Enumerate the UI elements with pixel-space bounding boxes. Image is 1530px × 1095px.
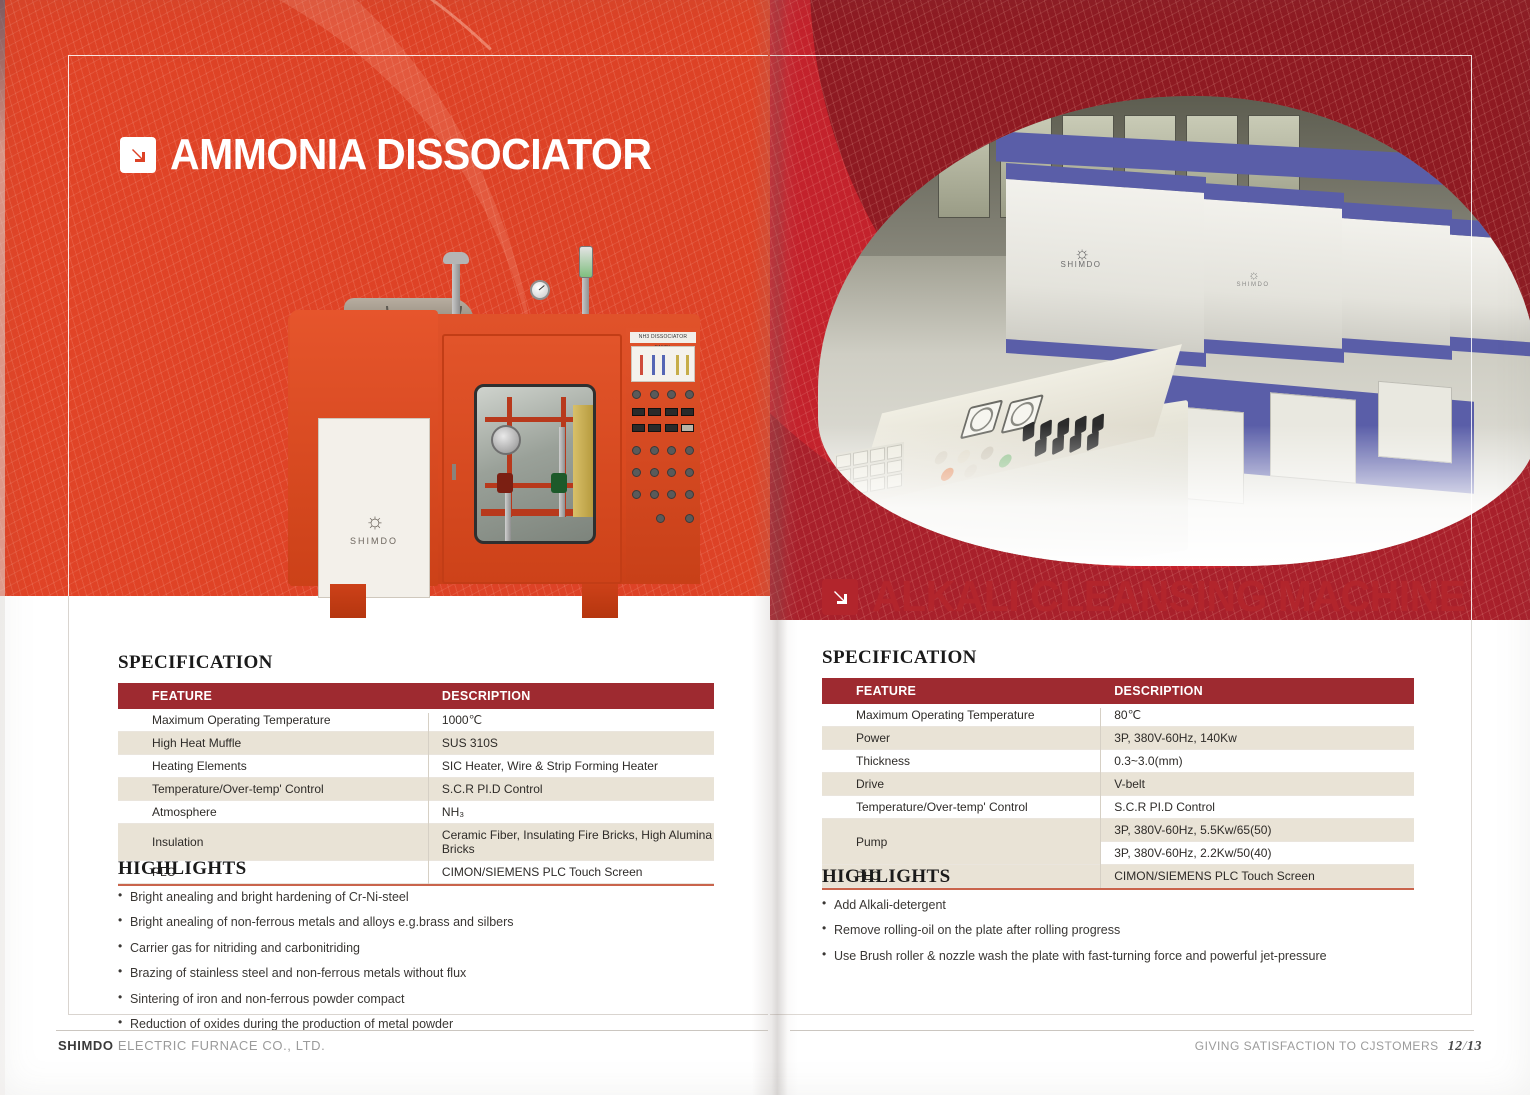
right-table-column-separator <box>1100 708 1101 888</box>
factory-scene: ☼ SHIMDO ☼ SHIMDO <box>818 96 1530 566</box>
left-spec-table: FEATURE DESCRIPTION Maximum Operating Te… <box>118 683 714 884</box>
panel-button[interactable] <box>650 468 659 477</box>
cell-description: 3P, 380V-60Hz, 2.2Kw/50(40) <box>1100 842 1414 865</box>
cell-feature: Thickness <box>822 750 1100 773</box>
right-spec-heading: SPECIFICATION <box>822 647 1414 669</box>
panel-meter <box>665 408 678 416</box>
cell-feature: Maximum Operating Temperature <box>118 709 428 732</box>
machine-logo-text: SHIMDO <box>350 536 398 546</box>
panel-button[interactable] <box>632 490 641 499</box>
page-number-right: 13 <box>1467 1039 1482 1054</box>
list-item: Add Alkali-detergent <box>822 898 1422 923</box>
right-footer-rule <box>790 1030 1474 1031</box>
machine-control-panel: NH3 DISSOCIATOR PANEL <box>626 328 700 584</box>
cell-feature: Atmosphere <box>118 801 428 824</box>
machine-panel-mimic-screen <box>631 346 695 382</box>
panel-button[interactable] <box>632 468 641 477</box>
panel-meter <box>632 408 645 416</box>
list-item: Use Brush roller & nozzle wash the plate… <box>822 949 1422 974</box>
panel-meter <box>681 408 694 416</box>
table-row: Heating ElementsSIC Heater, Wire & Strip… <box>118 755 714 778</box>
cell-description: 3P, 380V-60Hz, 140Kw <box>1100 727 1414 750</box>
panel-button[interactable] <box>685 490 694 499</box>
right-highlights-section: HIGHLIGHTS Add Alkali-detergentRemove ro… <box>822 866 1422 974</box>
footer-tagline: GIVING SATISFACTION TO CJSTOMERS <box>1195 1039 1439 1053</box>
page-number-left: 12 <box>1448 1039 1463 1054</box>
right-highlights-heading: HIGHLIGHTS <box>822 866 1422 888</box>
cell-description: 80℃ <box>1100 704 1414 727</box>
left-spec-heading: SPECIFICATION <box>118 652 714 674</box>
machine-valve-red <box>497 473 513 493</box>
machine-brand-logo: ☼ SHIMDO <box>350 512 398 546</box>
panel-button[interactable] <box>685 468 694 477</box>
furnace-logo-text-2: SHIMDO <box>1218 282 1288 288</box>
machine-valve-green <box>551 473 567 493</box>
cell-description: SUS 310S <box>428 732 714 755</box>
furnace-brand-logo: ☼ SHIMDO <box>1036 246 1126 269</box>
cell-description: S.C.R PI.D Control <box>428 778 714 801</box>
left-highlights-list: Bright anealing and bright hardening of … <box>118 890 718 1042</box>
ammonia-dissociator-photo: ☼ SHIMDO NH3 DISSOCIATOR PAN <box>282 252 722 634</box>
mimic-bar-5 <box>686 355 689 375</box>
table-row: Maximum Operating Temperature1000℃ <box>118 709 714 732</box>
column-header-description: DESCRIPTION <box>1100 678 1414 704</box>
machine-panel-button-row-5[interactable] <box>656 514 694 523</box>
panel-button[interactable] <box>685 514 694 523</box>
cell-feature: Temperature/Over-temp' Control <box>822 796 1100 819</box>
machine-center-cabinet <box>442 334 622 584</box>
table-row: DriveV-belt <box>822 773 1414 796</box>
machine-center-handle <box>452 464 456 480</box>
panel-button[interactable] <box>667 446 676 455</box>
list-item: Sintering of iron and non-ferrous powder… <box>118 992 718 1017</box>
panel-meter <box>681 424 694 432</box>
machine-logo-panel: ☼ SHIMDO <box>318 418 430 598</box>
table-row: InsulationCeramic Fiber, Insulating Fire… <box>118 824 714 861</box>
machine-panel-button-row-4[interactable] <box>632 490 694 499</box>
page-title: ALKALI CLEANSING MACHINE <box>872 575 1466 619</box>
factory-floor-glow <box>818 425 1530 566</box>
mimic-bar-3 <box>662 355 665 375</box>
machine-flow-valve <box>491 425 521 455</box>
cell-description: S.C.R PI.D Control <box>1100 796 1414 819</box>
table-row: High Heat MuffleSUS 310S <box>118 732 714 755</box>
table-row: AtmosphereNH₃ <box>118 801 714 824</box>
panel-button[interactable] <box>656 514 665 523</box>
table-header-row: FEATURE DESCRIPTION <box>118 683 714 709</box>
cell-feature: Pump <box>822 819 1100 865</box>
machine-panel-button-row-3[interactable] <box>632 468 694 477</box>
list-item: Remove rolling-oil on the plate after ro… <box>822 923 1422 948</box>
furnace-logo-text: SHIMDO <box>1036 260 1126 269</box>
right-specification-section: SPECIFICATION FEATURE DESCRIPTION Maximu… <box>822 647 1414 890</box>
shimdo-logo-mark: ☼ <box>350 512 398 530</box>
cell-description: 1000℃ <box>428 709 714 732</box>
machine-panel-button-row-2[interactable] <box>632 446 694 455</box>
machine-shaft-2 <box>559 427 565 517</box>
cell-feature: High Heat Muffle <box>118 732 428 755</box>
footer-company-rest: ELECTRIC FURNACE CO., LTD. <box>114 1038 326 1053</box>
table-row: Power3P, 380V-60Hz, 140Kw <box>822 727 1414 750</box>
machine-foot-right <box>582 584 618 618</box>
table-row: Temperature/Over-temp' ControlS.C.R PI.D… <box>118 778 714 801</box>
panel-button[interactable] <box>685 446 694 455</box>
machine-left-door: ☼ SHIMDO <box>290 310 438 586</box>
page-number: 12/13 <box>1448 1039 1482 1055</box>
panel-button[interactable] <box>632 390 641 399</box>
machine-pressure-gauge <box>530 280 550 300</box>
left-highlights-section: HIGHLIGHTS Bright anealing and bright ha… <box>118 858 718 1042</box>
machine-foot-left <box>330 584 366 618</box>
furnace-unit <box>1450 219 1530 358</box>
cell-feature: Temperature/Over-temp' Control <box>118 778 428 801</box>
cell-description: 0.3~3.0(mm) <box>1100 750 1414 773</box>
panel-button[interactable] <box>650 390 659 399</box>
cell-description: Ceramic Fiber, Insulating Fire Bricks, H… <box>428 824 714 861</box>
cell-feature: Maximum Operating Temperature <box>822 704 1100 727</box>
cell-description: SIC Heater, Wire & Strip Forming Heater <box>428 755 714 778</box>
page-title: AMMONIA DISSOCIATOR <box>170 133 651 177</box>
machine-panel-label: NH3 DISSOCIATOR PANEL <box>630 332 696 343</box>
table-row: Maximum Operating Temperature80℃ <box>822 704 1414 727</box>
shimdo-logo-mark: ☼ <box>1218 268 1288 282</box>
column-header-feature: FEATURE <box>822 678 1100 704</box>
machine-panel-button-row-1[interactable] <box>632 390 694 399</box>
brochure-spread: ☼ SHIMDO NH3 DISSOCIATOR PAN <box>0 0 1530 1095</box>
list-item: Bright anealing of non-ferrous metals an… <box>118 915 718 940</box>
scan-left-edge <box>0 0 5 1095</box>
machine-panel-meter-row-2 <box>632 424 694 432</box>
alkali-cleansing-machine-photo: ☼ SHIMDO ☼ SHIMDO <box>818 96 1530 566</box>
table-header-row: FEATURE DESCRIPTION <box>822 678 1414 704</box>
machine-panel-meter-row-1 <box>632 408 694 416</box>
mimic-bar-2 <box>652 355 655 375</box>
factory-window <box>938 115 990 218</box>
machine-yellow-column <box>573 405 593 517</box>
panel-meter <box>665 424 678 432</box>
list-item: Brazing of stainless steel and non-ferro… <box>118 966 718 991</box>
mimic-bar-1 <box>640 355 643 375</box>
list-item: Bright anealing and bright hardening of … <box>118 890 718 915</box>
cell-feature: Power <box>822 727 1100 750</box>
cell-description: NH₃ <box>428 801 714 824</box>
footer-company: SHIMDO ELECTRIC FURNACE CO., LTD. <box>58 1038 325 1053</box>
shimdo-logo-mark: ☼ <box>1036 246 1126 260</box>
panel-meter <box>648 408 661 416</box>
panel-button[interactable] <box>667 390 676 399</box>
left-page-title-row: AMMONIA DISSOCIATOR <box>120 133 688 177</box>
left-highlights-heading: HIGHLIGHTS <box>118 858 718 880</box>
footer-tagline-block: GIVING SATISFACTION TO CJSTOMERS 12/13 <box>1195 1039 1482 1055</box>
machine-vent-stack-1 <box>452 260 460 322</box>
arrow-down-right-icon <box>120 137 156 173</box>
panel-button[interactable] <box>685 390 694 399</box>
panel-button[interactable] <box>667 490 676 499</box>
cell-feature: Heating Elements <box>118 755 428 778</box>
arrow-down-right-icon <box>822 579 858 615</box>
cell-feature: Insulation <box>118 824 428 861</box>
column-header-feature: FEATURE <box>118 683 428 709</box>
left-footer-rule <box>56 1030 768 1031</box>
table-row: Temperature/Over-temp' ControlS.C.R PI.D… <box>822 796 1414 819</box>
panel-button[interactable] <box>650 490 659 499</box>
column-header-description: DESCRIPTION <box>428 683 714 709</box>
cell-description: 3P, 380V-60Hz, 5.5Kw/65(50) <box>1100 819 1414 842</box>
panel-button[interactable] <box>650 446 659 455</box>
cell-description: V-belt <box>1100 773 1414 796</box>
panel-meter <box>648 424 661 432</box>
panel-button[interactable] <box>632 446 641 455</box>
cell-feature: Drive <box>822 773 1100 796</box>
footer-company-bold: SHIMDO <box>58 1038 114 1053</box>
right-spec-table: FEATURE DESCRIPTION Maximum Operating Te… <box>822 678 1414 888</box>
right-page-title-row: ALKALI CLEANSING MACHINE <box>822 575 1510 619</box>
machine-viewing-window <box>474 384 596 544</box>
furnace-unit <box>1342 202 1452 360</box>
panel-button[interactable] <box>667 468 676 477</box>
panel-meter <box>632 424 645 432</box>
mimic-bar-4 <box>676 355 679 375</box>
right-highlights-list: Add Alkali-detergentRemove rolling-oil o… <box>822 898 1422 974</box>
left-specification-section: SPECIFICATION FEATURE DESCRIPTION Maximu… <box>118 652 714 886</box>
list-item: Carrier gas for nitriding and carbonitri… <box>118 941 718 966</box>
table-row: Pump3P, 380V-60Hz, 5.5Kw/65(50) <box>822 819 1414 842</box>
table-row: Thickness0.3~3.0(mm) <box>822 750 1414 773</box>
furnace-brand-logo-2: ☼ SHIMDO <box>1218 268 1288 288</box>
